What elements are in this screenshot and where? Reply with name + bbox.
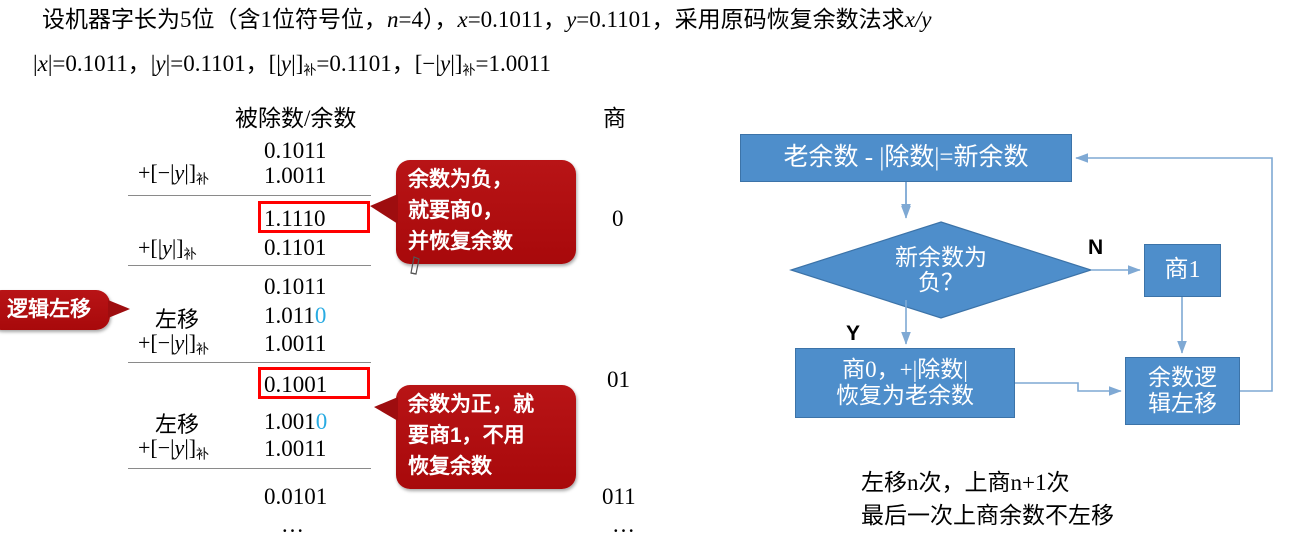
flow-label-no: N xyxy=(1088,236,1103,260)
flow-label-yes: Y xyxy=(846,322,860,346)
flowchart-connectors xyxy=(0,0,1315,549)
slide-canvas: 设机器字长为5位（含1位符号位，n=4），x=0.1011，y=0.1101，采… xyxy=(0,0,1315,549)
flow-box-quotient-0[interactable]: 商0，+|除数| 恢复为老余数 xyxy=(795,348,1015,418)
flow-box-quotient-1[interactable]: 商1 xyxy=(1144,244,1221,297)
flow-box-subtract[interactable]: 老余数 - |除数|=新余数 xyxy=(740,134,1072,182)
flow-decision-label: 新余数为 负？ xyxy=(791,222,1091,318)
flow-box-remainder-shift[interactable]: 余数逻 辑左移 xyxy=(1125,357,1240,425)
flowchart-note: 左移n次，上商n+1次 最后一次上商余数不左移 xyxy=(861,466,1114,532)
flow-decision-wrap[interactable]: 新余数为 负？ xyxy=(791,222,1091,318)
